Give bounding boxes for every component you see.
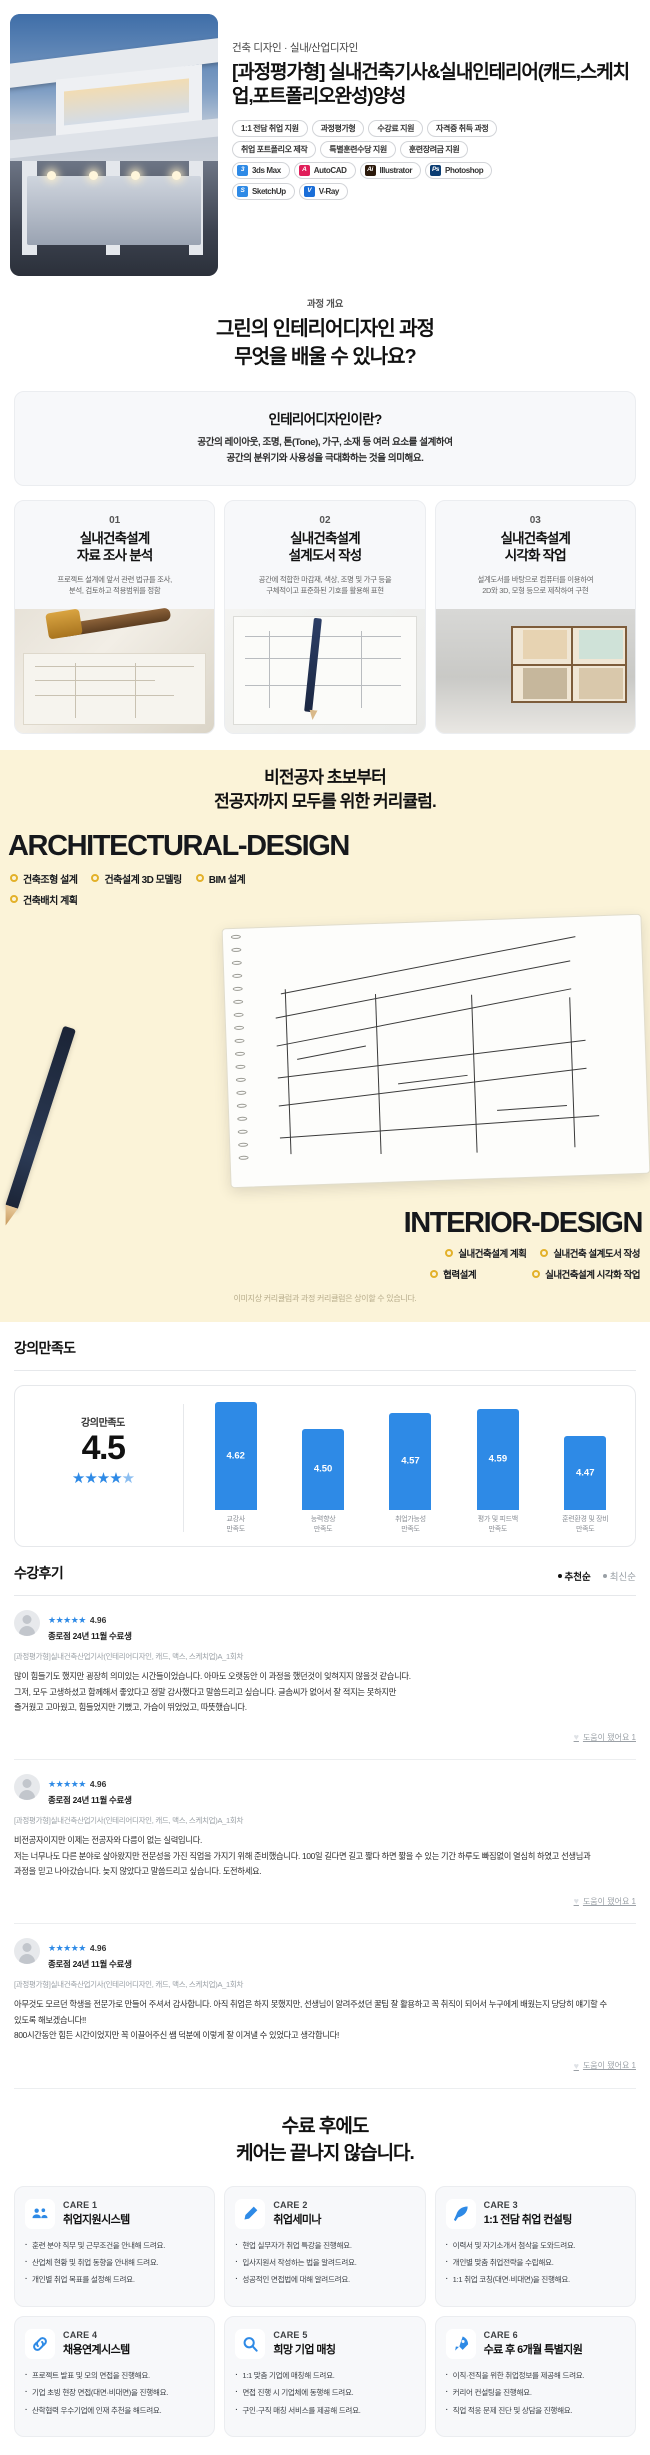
care-card-list: 현업 실무자가 취업 특강을 진행해요.입사지원서 작성하는 법을 알려드려요.… [235,2240,414,2286]
review-body-line: 800시간동안 힘든 시간이었지만 꼭 이끌어주신 쌤 덕분에 이렇게 잘 이겨… [14,2028,636,2043]
step-desc-line2: 2D와 3D, 모형 등으로 제작하여 구현 [444,585,627,596]
rating-section-title: 강의만족도 [14,1338,636,1358]
review-course-name: [과정평가형]실내건축산업기사(인테리어디자인, 캐드, 맥스, 스케치업)A_… [14,1815,636,1826]
curriculum-item-label: BIM 설계 [209,871,246,886]
overview-title: 그린의 인테리어디자인 과정 무엇을 배울 수 있나요? [0,316,650,371]
review-author: 종로점 24년 11월 수료생 [48,1630,132,1642]
review-course-name: [과정평가형]실내건축산업기사(인테리어디자인, 캐드, 맥스, 스케치업)A_… [14,1651,636,1662]
step-card: 03 실내건축설계 시각화 작업 설계도서를 바탕으로 컴퓨터를 이용하여 2D… [435,500,636,734]
overall-rating-label: 강의만족도 [23,1414,183,1429]
step-desc-line1: 프로젝트 설계에 앞서 관련 법규를 조사, [23,574,206,585]
bullet-circle-icon [445,1249,453,1257]
care-card-header: CARE 31:1 전담 취업 컨설팅 [446,2199,625,2229]
software-label: 3ds Max [252,166,281,175]
step-title-line1: 실내건축설계 [19,530,210,548]
step-card: 02 실내건축설계 설계도서 작성 공간에 적합한 마감재, 색상, 조명 및 … [224,500,425,734]
spiral-binding-icon [231,935,250,1183]
reviews-list: ★★★★★4.96종로점 24년 11월 수료생[과정평가형]실내건축산업기사(… [14,1596,636,2088]
overview-kicker: 과정 개요 [0,296,650,310]
care-list-item: 1:1 맞춤 기업에 매칭해 드려요. [235,2370,414,2381]
star-rating-icon: ★★★★★ [23,1469,183,1487]
bar-category-label: 능력향상만족도 [311,1515,336,1535]
people-icon [25,2199,55,2229]
care-card: CARE 6수료 후 6개월 특별지원이직·전직을 위한 취업정보를 제공해 드… [435,2316,636,2437]
hero-info: 건축 디자인 · 실내/산업디자인 [과정평가형] 실내건축기사&실내인테리어(… [232,14,640,276]
feather-icon [446,2199,476,2229]
review-footer: ♥도움이 됐어요 1 [14,1715,636,1755]
care-card-list: 이력서 및 자기소개서 첨삭을 도와드려요.개인별 맞춤 취업전략을 수립해요.… [446,2240,625,2286]
review-rating-row: ★★★★★4.96 [48,1774,132,1792]
review-author: 종로점 24년 11월 수료생 [48,1794,132,1806]
sketchup-icon: S [237,186,248,197]
care-list-item: 입사지원서 작성하는 법을 알려드려요. [235,2257,414,2268]
illustrator-icon: Ai [365,165,376,176]
review-body: 비전공자이지만 이제는 전공자와 다름이 없는 실력입니다.저는 너무나도 다른… [14,1833,636,1879]
satisfaction-chart-card: 강의만족도 4.5 ★★★★★ 4.62교강사만족도4.50능력향상만족도4.5… [14,1385,636,1548]
review-rating-row: ★★★★★4.96 [48,1610,132,1628]
curriculum-item: 실내건축설계 계획 [445,1246,526,1260]
review-item: ★★★★★4.96종로점 24년 11월 수료생[과정평가형]실내건축산업기사(… [14,1596,636,1760]
care-card-number: CARE 5 [273,2330,335,2340]
helpful-label: 도움이 됐어요 1 [583,2060,636,2071]
bar-value-label: 4.57 [401,1456,420,1467]
course-category: 건축 디자인 · 실내/산업디자인 [232,40,640,55]
review-item: ★★★★★4.96종로점 24년 11월 수료생[과정평가형]실내건축산업기사(… [14,1760,636,1924]
step-description: 공간에 적합한 마감재, 색상, 조명 및 가구 등을 구체적이고 표준화된 기… [225,565,424,609]
curriculum-item-label: 실내건축설계 계획 [458,1246,526,1260]
care-title-line2: 케어는 끝나지 않습니다. [0,2140,650,2168]
review-body-line: 저는 너무나도 다른 분야로 살아왔지만 전문성을 가진 직업을 가지기 위해 … [14,1849,636,1864]
bar-column: 4.47훈련환경 및 장비만족도 [555,1436,615,1535]
step-number: 01 [15,501,214,526]
pencil-icon [5,1025,76,1210]
step-title: 실내건축설계 시각화 작업 [436,526,635,565]
photoshop-icon: Ps [430,165,441,176]
review-item: ★★★★★4.96종로점 24년 11월 수료생[과정평가형]실내건축산업기사(… [14,1924,636,2088]
star-rating-icon: ★★★★★ [48,1779,86,1789]
step-title: 실내건축설계 자료 조사 분석 [15,526,214,565]
step-desc-line2: 구체적이고 표준화된 기호를 활용해 표현 [233,585,416,596]
interior-design-title: INTERIOR-DESIGN [0,1203,650,1246]
care-card-title: 수료 후 6개월 특별지원 [484,2341,583,2357]
step-image-law-plans [15,609,214,733]
definition-title: 인테리어디자인이란? [25,408,625,428]
avatar [14,1938,40,1964]
care-card-titles: CARE 31:1 전담 취업 컨설팅 [484,2200,572,2227]
bar-category-label: 취업가능성만족도 [395,1515,426,1535]
review-footer: ♥도움이 됐어요 1 [14,1879,636,1919]
bar-value-label: 4.47 [576,1467,595,1478]
care-card-titles: CARE 4채용연계시스템 [63,2330,130,2357]
care-card-header: CARE 1취업지원시스템 [25,2199,204,2229]
software-badge-vray[interactable]: V V-Ray [299,183,348,200]
care-list-item: 이직·전직을 위한 취업정보를 제공해 드려요. [446,2370,625,2381]
overview-title-line2: 무엇을 배울 수 있나요? [0,344,650,372]
review-header: ★★★★★4.96종로점 24년 11월 수료생 [14,1774,636,1806]
bar-value-label: 4.50 [314,1464,333,1475]
pen-icon [235,2199,265,2229]
overall-rating-score: 4.5 [23,1431,183,1467]
badge-row-software-1: 3 3ds Max A AutoCAD Ai Illustrator Ps Ph… [232,162,640,179]
step-title-line1: 실내건축설계 [440,530,631,548]
care-list-item: 훈련 분야 직무 및 근무조건을 안내해 드려요. [25,2240,204,2251]
care-section: 수료 후에도 케어는 끝나지 않습니다. CARE 1취업지원시스템훈련 분야 … [0,2089,650,2455]
care-card-number: CARE 1 [63,2200,130,2210]
badge[interactable]: 1:1 전담 취업 지원 [232,120,308,137]
software-label: AutoCAD [314,166,347,175]
care-card-list: 이직·전직을 위한 취업정보를 제공해 드려요.커리어 컨설팅을 진행해요.직업… [446,2370,625,2416]
care-card-title: 1:1 전담 취업 컨설팅 [484,2211,572,2227]
bar-value-label: 4.59 [489,1454,508,1465]
care-list-item: 성공적인 면접법에 대해 알려드려요. [235,2274,414,2285]
review-body: 많이 힘들기도 했지만 굉장히 의미있는 시간들이었습니다. 아마도 오랫동안 … [14,1669,636,1715]
heart-icon: ♥ [574,1732,579,1742]
review-course-name: [과정평가형]실내건축산업기사(인테리어디자인, 캐드, 맥스, 스케치업)A_… [14,1979,636,1990]
vray-icon: V [304,186,315,197]
care-list-item: 1:1 취업 코칭(대면·비대면)을 진행해요. [446,2274,625,2285]
rocket-icon [446,2329,476,2359]
step-number: 02 [225,501,424,526]
search-icon [235,2329,265,2359]
curriculum-heading-line2: 전공자까지 모두를 위한 커리큘럼. [0,790,650,814]
care-list-item: 구인·구직 매칭 서비스를 제공해 드려요. [235,2405,414,2416]
step-desc-line1: 공간에 적합한 마감재, 색상, 조명 및 가구 등을 [233,574,416,585]
care-card: CARE 4채용연계시스템프로젝트 발표 및 모의 면접을 진행해요.기업 초빙… [14,2316,215,2437]
care-card: CARE 1취업지원시스템훈련 분야 직무 및 근무조건을 안내해 드려요.산업… [14,2186,215,2307]
bar-category-label: 평가 및 피드백만족도 [478,1515,518,1535]
bullet-circle-icon [430,1270,438,1278]
definition-text: 공간의 레이아웃, 조명, 톤(Tone), 가구, 소재 등 여러 요소를 설… [25,435,625,466]
architectural-design-items: 건축조형 설계 건축설계 3D 모델링 BIM 설계 건축배치 계획 [0,871,270,907]
review-score: 4.96 [90,1943,107,1953]
curriculum-item: 건축조형 설계 [10,871,77,886]
step-title-line2: 시각화 작업 [440,547,631,565]
badge[interactable]: 과정평가형 [312,120,365,137]
course-title: [과정평가형] 실내건축기사&실내인테리어(캐드,스케치업,포트폴리오완성)양성 [232,61,640,110]
helpful-button[interactable]: ♥도움이 됐어요 1 [574,1896,636,1907]
divider-vertical [183,1404,184,1533]
curriculum-item-label: 실내건축 설계도서 작성 [553,1246,640,1260]
care-card-grid: CARE 1취업지원시스템훈련 분야 직무 및 근무조건을 안내해 드려요.산업… [0,2168,650,2437]
care-card-header: CARE 4채용연계시스템 [25,2329,204,2359]
heart-icon: ♥ [574,1896,579,1906]
software-badge-3dsmax[interactable]: 3 3ds Max [232,162,290,179]
software-label: Illustrator [380,166,413,175]
definition-box: 인테리어디자인이란? 공간의 레이아웃, 조명, 톤(Tone), 가구, 소재… [14,391,636,485]
review-body-line: 아무것도 모르던 학생을 전문가로 만들어 주셔서 감사합니다. 아직 취업은 … [14,1997,636,2012]
badge-group: 1:1 전담 취업 지원 과정평가형 수강료 지원 자격증 취득 과정 취업 포… [232,120,640,200]
step-image-drafting [225,609,424,733]
care-list-item: 기업 초빙 현장 면접(대면·비대면)을 진행해요. [25,2387,204,2398]
sort-dot-icon [558,1574,562,1578]
bar-column: 4.59평가 및 피드백만족도 [468,1409,528,1535]
interior-design-items-row2: 협력설계 실내건축설계 시각화 작업 [0,1267,650,1281]
rating-section: 강의만족도 강의만족도 4.5 ★★★★★ 4.62교강사만족도4.50능력향상… [0,1322,650,1548]
care-list-item: 면접 진행 시 기업체에 동행해 드려요. [235,2387,414,2398]
care-card-number: CARE 6 [484,2330,583,2340]
care-list-item: 산학협력 우수기업에 인재 추천을 해드려요. [25,2405,204,2416]
review-header: ★★★★★4.96종로점 24년 11월 수료생 [14,1938,636,1970]
badge[interactable]: 자격증 취득 과정 [427,120,497,137]
care-card-header: CARE 2취업세미나 [235,2199,414,2229]
care-card-list: 1:1 맞춤 기업에 매칭해 드려요.면접 진행 시 기업체에 동행해 드려요.… [235,2370,414,2416]
helpful-button[interactable]: ♥도움이 됐어요 1 [574,1732,636,1743]
link-icon [25,2329,55,2359]
curriculum-item: 실내건축설계 시각화 작업 [532,1267,640,1281]
care-card-header: CARE 6수료 후 6개월 특별지원 [446,2329,625,2359]
helpful-label: 도움이 됐어요 1 [583,1732,636,1743]
care-card-number: CARE 3 [484,2200,572,2210]
care-card-title: 희망 기업 매칭 [273,2341,335,2357]
stars-full: ★★★★ [72,1470,122,1487]
sketchpad [222,914,650,1188]
bar-category-label: 교강사만족도 [226,1515,244,1535]
review-body-line: 즐거웠고 고마웠고, 힘들었지만 기뻤고, 가슴이 뛰었었고, 따뜻했습니다. [14,1700,636,1715]
care-card-list: 훈련 분야 직무 및 근무조건을 안내해 드려요.산업체 현황 및 취업 동향을… [25,2240,204,2286]
definition-line2: 공간의 분위기와 사용성을 극대화하는 것을 의미해요. [25,451,625,467]
care-card-list: 프로젝트 발표 및 모의 면접을 진행해요.기업 초빙 현장 면접(대면·비대면… [25,2370,204,2416]
review-body: 아무것도 모르던 학생을 전문가로 만들어 주셔서 감사합니다. 아직 취업은 … [14,1997,636,2043]
bar-value-label: 4.62 [226,1450,245,1461]
badge[interactable]: 수강료 지원 [368,120,423,137]
architectural-design-title: ARCHITECTURAL-DESIGN [0,814,650,871]
badge[interactable]: 취업 포트폴리오 제작 [232,141,316,158]
curriculum-section: 비전공자 초보부터 전공자까지 모두를 위한 커리큘럼. ARCHITECTUR… [0,750,650,1322]
care-card: CARE 31:1 전담 취업 컨설팅이력서 및 자기소개서 첨삭을 도와드려요… [435,2186,636,2307]
bar-column: 4.50능력향상만족도 [293,1429,353,1534]
care-card-titles: CARE 6수료 후 6개월 특별지원 [484,2330,583,2357]
curriculum-item: 협력설계 [430,1267,476,1281]
software-label: SketchUp [252,187,286,196]
curriculum-item-label: 실내건축설계 시각화 작업 [545,1267,640,1281]
step-desc-line2: 분석, 검토하고 적용범위를 정함 [23,585,206,596]
software-badge-illustrator[interactable]: Ai Illustrator [360,162,422,179]
definition-line1: 공간의 레이아웃, 조명, 톤(Tone), 가구, 소재 등 여러 요소를 설… [25,435,625,451]
care-card: CARE 5희망 기업 매칭1:1 맞춤 기업에 매칭해 드려요.면접 진행 시… [224,2316,425,2437]
care-card-titles: CARE 2취업세미나 [273,2200,321,2227]
overview-section: 과정 개요 그린의 인테리어디자인 과정 무엇을 배울 수 있나요? [0,282,650,377]
bullet-circle-icon [540,1249,548,1257]
review-body-line: 있도록 해보겠습니다!! [14,2013,636,2028]
interior-design-items-row1: 실내건축설계 계획 실내건축 설계도서 작성 [0,1246,650,1260]
sort-label: 최신순 [610,1569,636,1583]
bar: 4.47 [564,1436,606,1510]
badge-row-software-2: S SketchUp V V-Ray [232,183,640,200]
bar-category-label: 훈련환경 및 장비만족도 [562,1515,608,1535]
curriculum-heading-line1: 비전공자 초보부터 [0,766,650,790]
stars-half: ★ [122,1470,134,1487]
bar-column: 4.62교강사만족도 [206,1402,266,1535]
review-score: 4.96 [90,1615,107,1625]
review-sort-controls: 추천순 최신순 [558,1569,636,1583]
badge-row-benefits-1: 1:1 전담 취업 지원 과정평가형 수강료 지원 자격증 취득 과정 [232,120,640,137]
care-list-item: 프로젝트 발표 및 모의 면접을 진행해요. [25,2370,204,2381]
bullet-circle-icon [10,874,18,882]
reviews-section-title: 수강후기 [14,1563,63,1583]
review-footer: ♥도움이 됐어요 1 [14,2044,636,2084]
care-list-item: 개인별 취업 목표를 설정해 드려요. [25,2274,204,2285]
helpful-button[interactable]: ♥도움이 됐어요 1 [574,2060,636,2071]
bar: 4.59 [477,1409,519,1510]
software-badge-sketchup[interactable]: S SketchUp [232,183,295,200]
care-card-titles: CARE 5희망 기업 매칭 [273,2330,335,2357]
overview-title-line1: 그린의 인테리어디자인 과정 [0,316,650,344]
hero-section: 건축 디자인 · 실내/산업디자인 [과정평가형] 실내건축기사&실내인테리어(… [0,0,650,282]
software-label: V-Ray [319,187,339,196]
review-body-line: 많이 힘들기도 했지만 굉장히 의미있는 시간들이었습니다. 아마도 오랫동안 … [14,1669,636,1684]
step-title-line2: 설계도서 작성 [229,547,420,565]
care-card-number: CARE 2 [273,2200,321,2210]
avatar [14,1610,40,1636]
curriculum-heading: 비전공자 초보부터 전공자까지 모두를 위한 커리큘럼. [0,766,650,814]
helpful-label: 도움이 됐어요 1 [583,1896,636,1907]
sort-dot-icon [603,1574,607,1578]
care-card-title: 취업지원시스템 [63,2211,130,2227]
step-card: 01 실내건축설계 자료 조사 분석 프로젝트 설계에 앞서 관련 법규를 조사… [14,500,215,734]
care-card-title: 취업세미나 [273,2211,321,2227]
badge[interactable]: 훈련장려금 지원 [400,141,469,158]
review-body-line: 비전공자이지만 이제는 전공자와 다름이 없는 실력입니다. [14,1833,636,1848]
review-rating-row: ★★★★★4.96 [48,1938,132,1956]
curriculum-item: 실내건축 설계도서 작성 [540,1246,640,1260]
star-rating-icon: ★★★★★ [48,1943,86,1953]
bullet-circle-icon [532,1270,540,1278]
curriculum-disclaimer: 이미지상 커리큘럼과 과정 커리큘럼은 상이할 수 있습니다. [0,1281,650,1314]
care-list-item: 현업 실무자가 취업 특강을 진행해요. [235,2240,414,2251]
step-title-line2: 자료 조사 분석 [19,547,210,565]
curriculum-item-label: 협력설계 [443,1267,476,1281]
step-title: 실내건축설계 설계도서 작성 [225,526,424,565]
bar: 4.62 [215,1402,257,1510]
curriculum-item: 건축설계 3D 모델링 [91,871,181,886]
review-body-line: 과정을 믿고 나아갔습니다. 늦지 않았다고 말씀드리고 싶습니다. 도전하세요… [14,1864,636,1879]
care-card-header: CARE 5희망 기업 매칭 [235,2329,414,2359]
software-label: Photoshop [445,166,483,175]
divider [14,1370,636,1371]
3dsmax-icon: 3 [237,165,248,176]
bullet-circle-icon [196,874,204,882]
review-score: 4.96 [90,1779,107,1789]
bar-column: 4.57취업가능성만족도 [380,1413,440,1534]
care-list-item: 직업 적응 문제 진단 및 상담을 진행해요. [446,2405,625,2416]
steps-section: 01 실내건축설계 자료 조사 분석 프로젝트 설계에 앞서 관련 법규를 조사… [0,486,650,750]
care-title: 수료 후에도 케어는 끝나지 않습니다. [0,2113,650,2168]
software-badge-photoshop[interactable]: Ps Photoshop [425,162,492,179]
step-title-line1: 실내건축설계 [229,530,420,548]
bar: 4.57 [389,1413,431,1510]
badge[interactable]: 특별훈련수당 지원 [320,141,396,158]
care-title-line1: 수료 후에도 [0,2113,650,2141]
bar: 4.50 [302,1429,344,1510]
care-card: CARE 2취업세미나현업 실무자가 취업 특강을 진행해요.입사지원서 작성하… [224,2186,425,2307]
curriculum-item-label: 건축조형 설계 [23,871,77,886]
review-meta: ★★★★★4.96종로점 24년 11월 수료생 [48,1774,132,1806]
care-card-number: CARE 4 [63,2330,130,2340]
software-badge-autocad[interactable]: A AutoCAD [294,162,356,179]
autocad-icon: A [299,165,310,176]
sort-label: 추천순 [565,1569,591,1583]
step-desc-line1: 설계도서를 바탕으로 컴퓨터를 이용하여 [444,574,627,585]
step-description: 프로젝트 설계에 앞서 관련 법규를 조사, 분석, 검토하고 적용범위를 정함 [15,565,214,609]
care-card-titles: CARE 1취업지원시스템 [63,2200,130,2227]
review-meta: ★★★★★4.96종로점 24년 11월 수료생 [48,1938,132,1970]
bullet-circle-icon [91,874,99,882]
step-image-model [436,609,635,733]
badge-row-benefits-2: 취업 포트폴리오 제작 특별훈련수당 지원 훈련장려금 지원 [232,141,640,158]
reviews-header: 수강후기 추천순 최신순 [14,1563,636,1583]
review-body-line: 그저, 모두 고생하셨고 함께해서 좋았다고 정말 감사했다고 말씀드리고 싶습… [14,1685,636,1700]
care-list-item: 산업체 현황 및 취업 동향을 안내해 드려요. [25,2257,204,2268]
sort-recommended[interactable]: 추천순 [558,1569,591,1583]
satisfaction-bar-chart: 4.62교강사만족도4.50능력향상만족도4.57취업가능성만족도4.59평가 … [194,1402,627,1535]
curriculum-item: BIM 설계 [196,871,246,886]
course-thumbnail-image [10,14,218,276]
review-meta: ★★★★★4.96종로점 24년 11월 수료생 [48,1610,132,1642]
step-description: 설계도서를 바탕으로 컴퓨터를 이용하여 2D와 3D, 모형 등으로 제작하여… [436,565,635,609]
care-list-item: 이력서 및 자기소개서 첨삭을 도와드려요. [446,2240,625,2251]
care-list-item: 커리어 컨설팅을 진행해요. [446,2387,625,2398]
review-author: 종로점 24년 11월 수료생 [48,1958,132,1970]
care-list-item: 개인별 맞춤 취업전략을 수립해요. [446,2257,625,2268]
sketch-illustration [0,903,650,1203]
step-number: 03 [436,501,635,526]
avatar [14,1774,40,1800]
curriculum-item-label: 건축설계 3D 모델링 [104,871,181,886]
reviews-section: 수강후기 추천순 최신순 ★★★★★4.96종로점 24년 11월 수료생[과정… [0,1547,650,2088]
care-card-title: 채용연계시스템 [63,2341,130,2357]
review-header: ★★★★★4.96종로점 24년 11월 수료생 [14,1610,636,1642]
heart-icon: ♥ [574,2061,579,2071]
overall-rating: 강의만족도 4.5 ★★★★★ [23,1402,183,1535]
star-rating-icon: ★★★★★ [48,1615,86,1625]
sort-latest[interactable]: 최신순 [603,1569,636,1583]
